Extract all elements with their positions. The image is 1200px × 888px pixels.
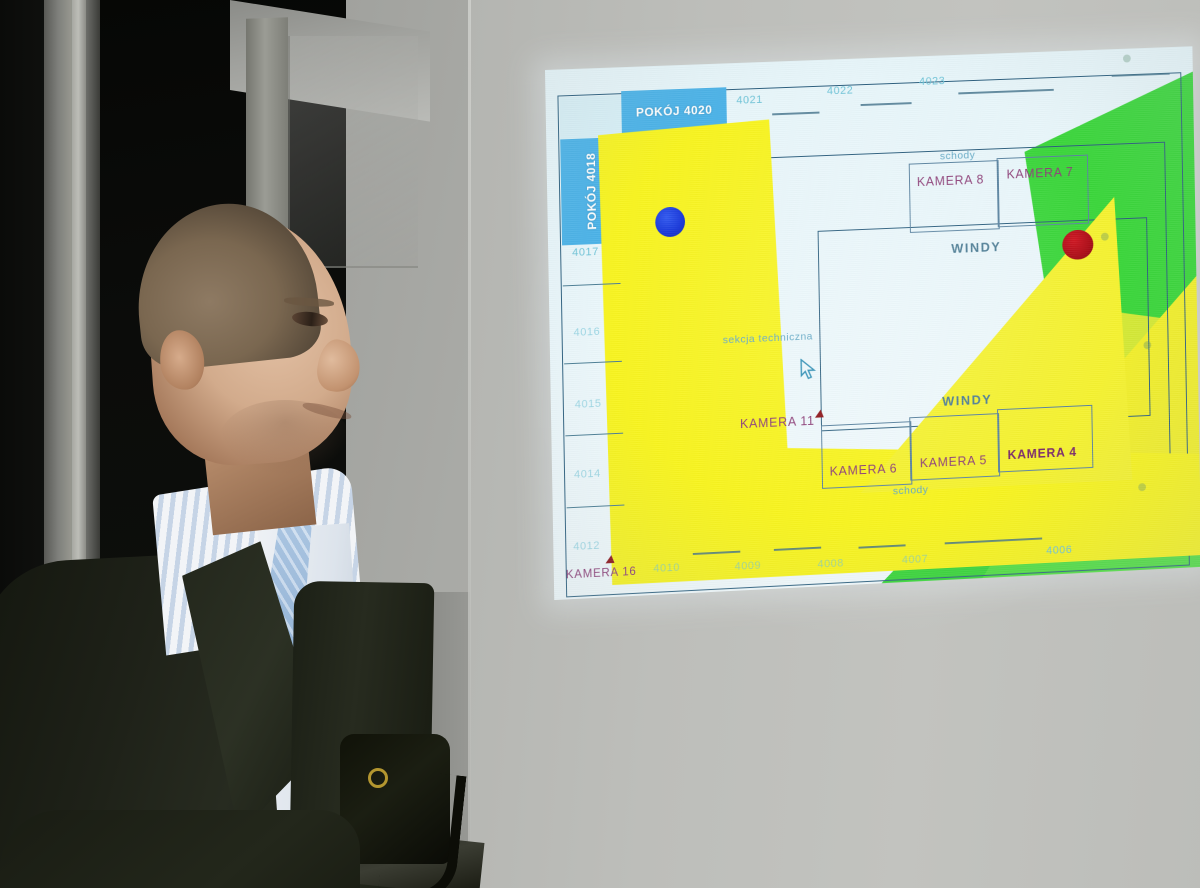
camera-cell-kamera-6[interactable]: [821, 421, 912, 489]
presenter-person: [40, 190, 460, 888]
camera-label-kamera-7: KAMERA 7: [1006, 165, 1073, 181]
camera-label-kamera-8: KAMERA 8: [917, 173, 985, 190]
room-number-4014: 4014: [574, 468, 601, 481]
room-number-4009: 4009: [735, 560, 762, 573]
projected-floor-plan-screen[interactable]: POKÓJ 4018 POKÓJ 4020 4017 4016 4015 401…: [545, 46, 1200, 600]
room-number-4017: 4017: [572, 246, 599, 259]
screenshot-scene: POKÓJ 4018 POKÓJ 4020 4017 4016 4015 401…: [0, 0, 1200, 888]
camera-cell-kamera-5[interactable]: [909, 413, 1000, 481]
floor-plan-canvas[interactable]: POKÓJ 4018 POKÓJ 4020 4017 4016 4015 401…: [545, 46, 1200, 600]
bag-buckle-icon: [368, 768, 388, 788]
camera-marker-kamera-11: [815, 409, 824, 417]
elevator-label-top: WINDY: [951, 239, 1001, 256]
room-number-4007: 4007: [902, 553, 929, 566]
room-cell-pokoj-4020-label: POKÓJ 4020: [636, 103, 713, 120]
elevator-label-bottom: WINDY: [942, 392, 992, 409]
camera-cell-kamera-8[interactable]: [909, 160, 1000, 233]
camera-cell-kamera-4[interactable]: [997, 405, 1093, 473]
bag-strap: [377, 768, 466, 888]
jaw-shadow: [220, 400, 350, 476]
room-number-4006: 4006: [1046, 544, 1072, 557]
room-number-4012: 4012: [573, 540, 600, 553]
room-number-4015: 4015: [575, 398, 602, 411]
room-number-4008: 4008: [817, 557, 844, 570]
room-number-4023: 4023: [919, 75, 945, 88]
suit-sleeve: [0, 810, 360, 888]
room-number-4022: 4022: [827, 84, 854, 97]
room-number-4016: 4016: [573, 326, 600, 339]
room-cell-pale-top: [559, 95, 621, 139]
wall-edge-highlight: [468, 0, 471, 888]
room-number-4021: 4021: [736, 94, 763, 107]
camera-marker-kamera-16: [605, 555, 614, 563]
room-number-4010: 4010: [653, 562, 680, 575]
hair: [128, 195, 324, 373]
room-cell-pokoj-4018-label: POKÓJ 4018: [584, 152, 599, 230]
stairs-label-bottom: schody: [893, 484, 929, 498]
